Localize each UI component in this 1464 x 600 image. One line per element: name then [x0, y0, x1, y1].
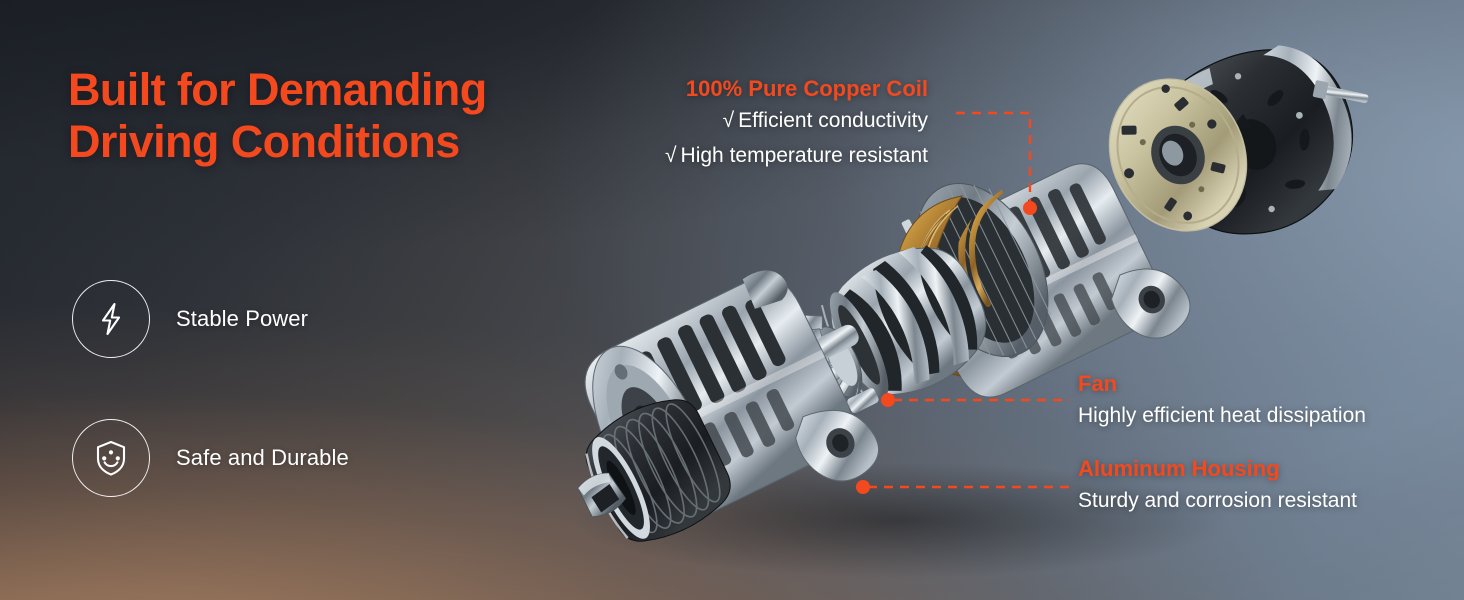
feature-label-stable-power: Stable Power	[176, 306, 308, 332]
check-icon: √	[665, 144, 677, 167]
headline-line-1: Built for Demanding	[68, 64, 487, 115]
callout-bullet-high-temperature-resistant: √High temperature resistant	[590, 141, 928, 171]
callout-fan: Fan Highly efficient heat dissipation	[1078, 370, 1366, 429]
check-icon: √	[723, 109, 735, 132]
callout-aluminum-housing: Aluminum Housing Sturdy and corrosion re…	[1078, 455, 1357, 514]
callout-subtitle-aluminum-housing: Sturdy and corrosion resistant	[1078, 487, 1357, 514]
callout-copper-coil: 100% Pure Copper Coil √Efficient conduct…	[590, 76, 928, 171]
headline-line-2: Driving Conditions	[68, 116, 487, 168]
callout-bullet-text: High temperature resistant	[681, 144, 928, 167]
callout-title-aluminum-housing: Aluminum Housing	[1078, 455, 1357, 483]
callout-bullet-text: Efficient conductivity	[738, 109, 928, 132]
feature-stable-power: Stable Power	[72, 280, 308, 358]
callout-title-fan: Fan	[1078, 370, 1366, 398]
feature-safe-and-durable: Safe and Durable	[72, 419, 349, 497]
product-infographic-banner: Built for Demanding Driving Conditions S…	[0, 0, 1464, 600]
feature-label-safe-and-durable: Safe and Durable	[176, 445, 349, 471]
shield-icon	[72, 419, 150, 497]
callout-title-copper-coil: 100% Pure Copper Coil	[590, 76, 928, 102]
callout-bullet-efficient-conductivity: √Efficient conductivity	[590, 106, 928, 136]
page-title: Built for Demanding Driving Conditions	[68, 64, 487, 168]
callout-subtitle-fan: Highly efficient heat dissipation	[1078, 402, 1366, 429]
lightning-bolt-icon	[72, 280, 150, 358]
